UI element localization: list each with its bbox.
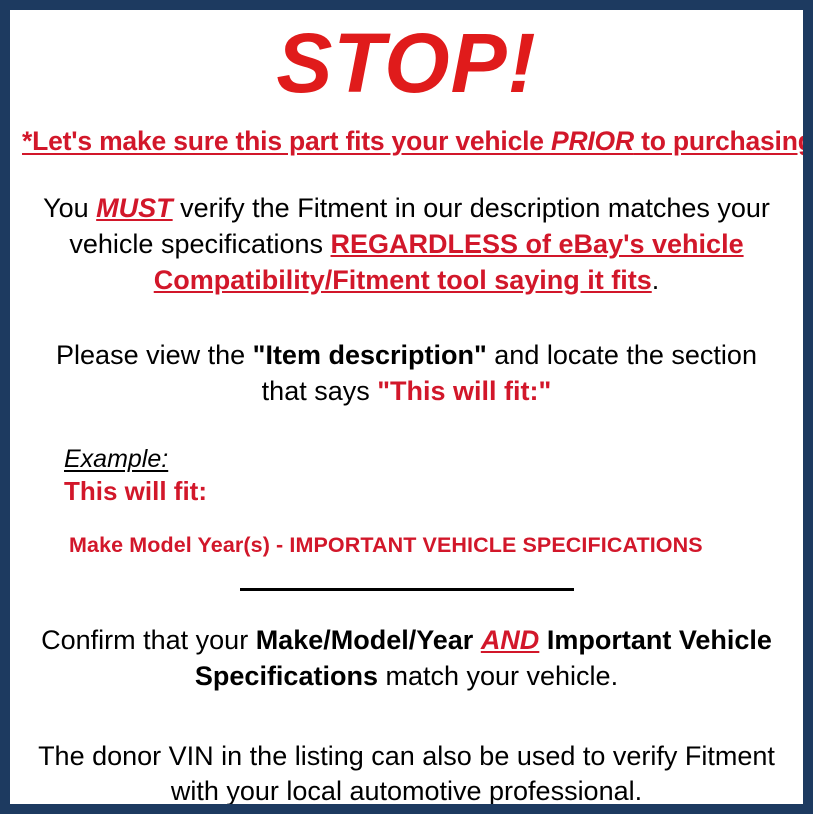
- confirm-space-2: [539, 625, 547, 655]
- item-description-paragraph: Please view the "Item description" and l…: [22, 338, 791, 409]
- must-paragraph-period: .: [652, 265, 660, 295]
- tagline-prior-emphasis: PRIOR: [551, 126, 634, 156]
- tagline-part2: to purchasing*: [634, 126, 813, 156]
- example-spec-line: Make Model Year(s) - IMPORTANT VEHICLE S…: [69, 533, 791, 558]
- notice-content: STOP! *Let's make sure this part fits yo…: [10, 10, 803, 804]
- tagline: *Let's make sure this part fits your veh…: [22, 126, 791, 157]
- make-model-year-emphasis: Make/Model/Year: [256, 625, 474, 655]
- example-label: Example:: [64, 445, 168, 474]
- item-description-emphasis: "Item description": [253, 340, 487, 370]
- fitment-warning-notice: STOP! *Let's make sure this part fits yo…: [0, 0, 813, 814]
- confirm-space-1: [473, 625, 481, 655]
- confirm-paragraph-lead: Confirm that your: [41, 625, 256, 655]
- must-verify-paragraph: You MUST verify the Fitment in our descr…: [22, 191, 791, 298]
- must-emphasis: MUST: [96, 193, 173, 223]
- donor-vin-paragraph: The donor VIN in the listing can also be…: [22, 739, 791, 810]
- confirm-paragraph-tail: match your vehicle.: [378, 661, 618, 691]
- please-paragraph-lead: Please view the: [56, 340, 253, 370]
- example-label-row: Example:: [64, 445, 791, 474]
- this-will-fit-emphasis: "This will fit:": [377, 376, 551, 406]
- must-paragraph-lead: You: [43, 193, 96, 223]
- example-fit-header: This will fit:: [64, 476, 791, 507]
- and-emphasis: AND: [481, 625, 540, 655]
- divider-wrap: [22, 580, 791, 598]
- confirm-paragraph: Confirm that your Make/Model/Year AND Im…: [22, 623, 791, 694]
- stop-heading: STOP!: [22, 10, 791, 104]
- horizontal-divider: [240, 588, 574, 591]
- tagline-part1: *Let's make sure this part fits your veh…: [22, 126, 551, 156]
- example-block: Example: This will fit: Make Model Year(…: [22, 445, 791, 558]
